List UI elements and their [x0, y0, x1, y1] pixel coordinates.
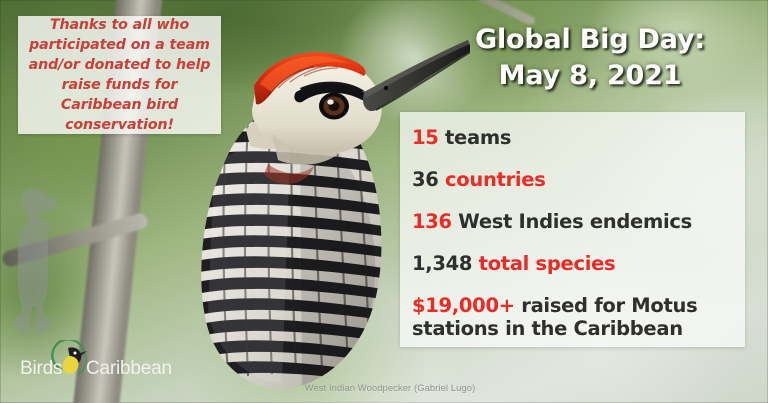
- thank-you-message: Thanks to all who participated on a team…: [26, 15, 213, 136]
- thank-you-panel: Thanks to all who participated on a team…: [18, 16, 221, 134]
- statistics-panel: 15 teams 36 countries 136 West Indies en…: [400, 112, 745, 347]
- photo-credit-caption: West Indian Woodpecker (Gabriel Lugo): [250, 382, 530, 393]
- birdscaribbean-logo[interactable]: Birds Caribbean: [12, 340, 174, 388]
- stat-label-countries: countries: [439, 168, 546, 191]
- stat-label-endemics: West Indies endemics: [452, 210, 692, 233]
- stat-row-teams: 15 teams: [412, 126, 745, 149]
- title-line-2: May 8, 2021: [430, 58, 750, 94]
- stat-row-funds-raised: $19,000+ raised for Motus stations in th…: [412, 294, 745, 341]
- stat-row-total-species: 1,348 total species: [412, 252, 745, 275]
- stat-label-teams: teams: [439, 126, 512, 149]
- birder-silhouette-icon: [8, 183, 70, 343]
- title-line-1: Global Big Day:: [430, 22, 750, 58]
- stat-row-countries: 36 countries: [412, 168, 745, 191]
- page-title: Global Big Day: May 8, 2021: [430, 22, 750, 93]
- svg-text:Birds: Birds: [20, 358, 62, 379]
- stat-number-funds-raised: $19,000+: [412, 294, 515, 317]
- svg-text:Caribbean: Caribbean: [86, 358, 172, 379]
- stat-number-total-species: 1,348: [412, 252, 472, 275]
- stat-row-endemics: 136 West Indies endemics: [412, 210, 745, 233]
- stat-number-countries: 36: [412, 168, 439, 191]
- stat-number-teams: 15: [412, 126, 439, 149]
- stat-number-endemics: 136: [412, 210, 452, 233]
- stat-label-total-species: total species: [472, 252, 615, 275]
- poster-canvas: Thanks to all who participated on a team…: [0, 0, 768, 403]
